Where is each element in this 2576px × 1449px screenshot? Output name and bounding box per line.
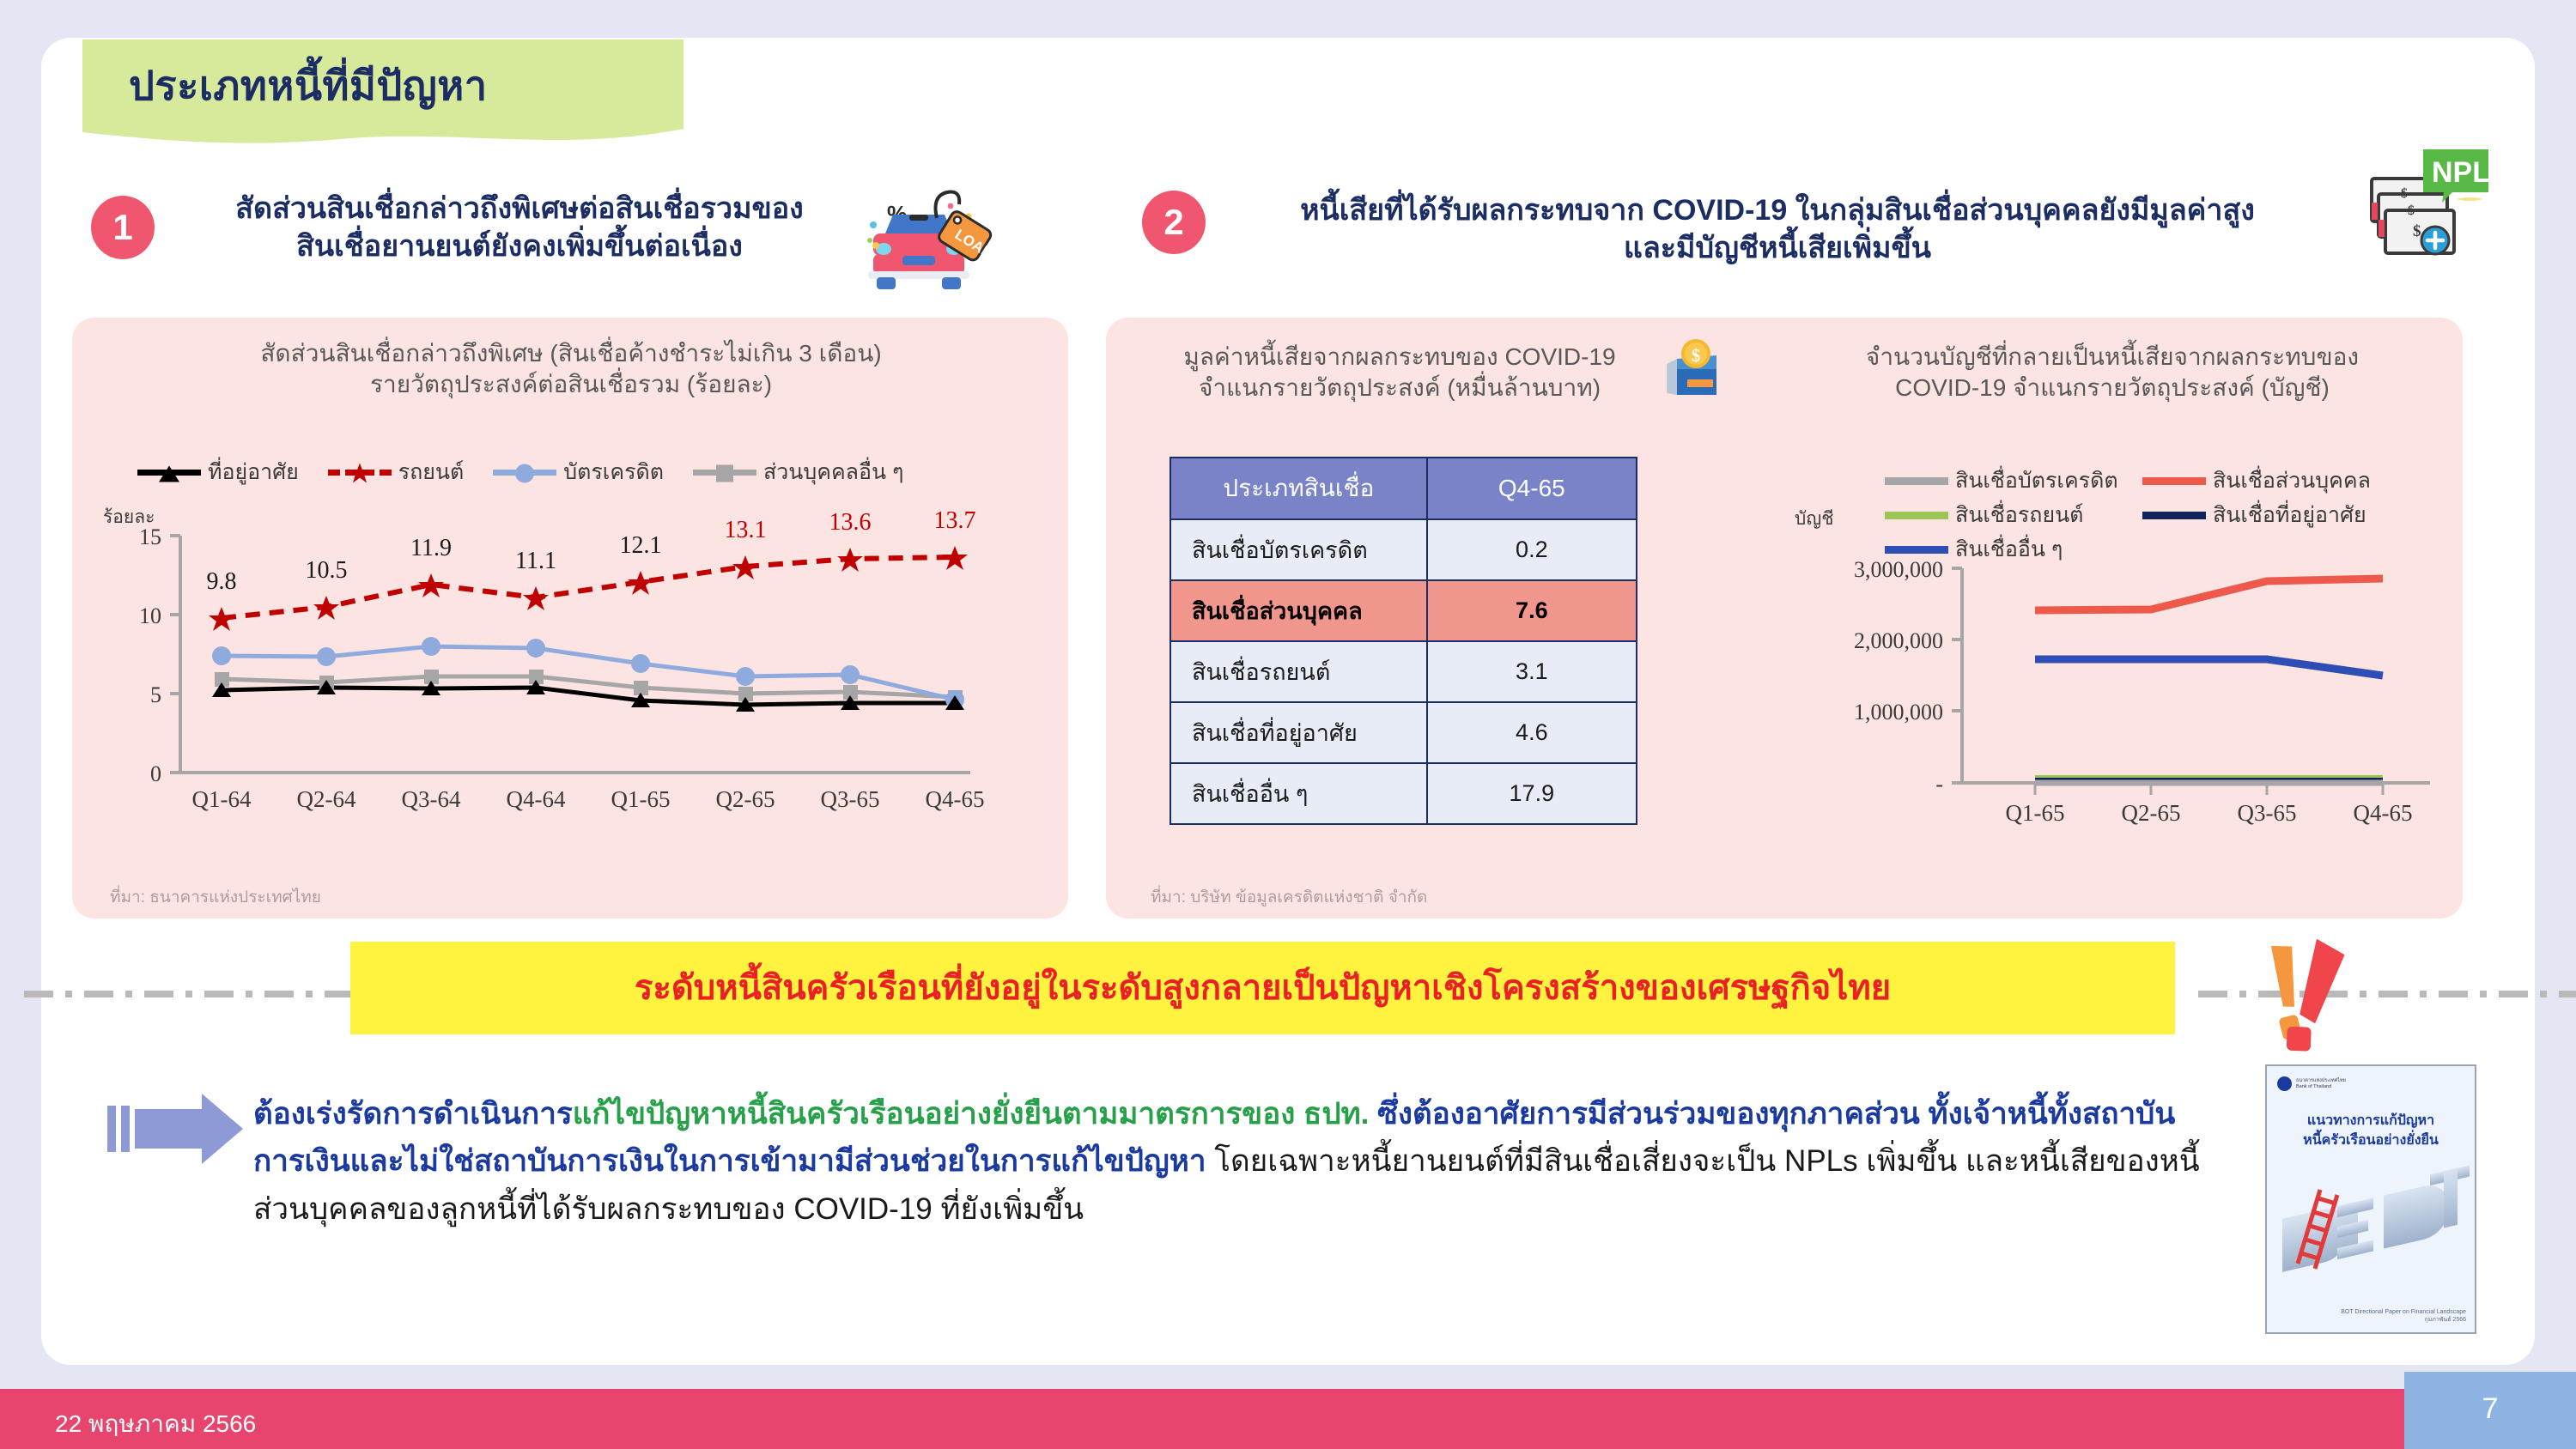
- book-footnote: BOT Directional Paper on Financial Lands…: [2341, 1309, 2466, 1325]
- table-cell-label: สินเชื่ออื่น ๆ: [1170, 763, 1427, 824]
- legend-item-personal[interactable]: สินเชื่อส่วนบุคคล: [2142, 464, 2434, 498]
- slide-root: ประเภทหนี้ที่มีปัญหา 1 สัดส่วนสินเชื่อกล…: [0, 0, 2576, 1449]
- svg-text:$: $: [2408, 203, 2415, 218]
- npl-table-source: ที่มา: บริษัท ข้อมูลเครดิตแห่งชาติ จำกัด: [1151, 884, 1427, 910]
- svg-text:-: -: [1935, 772, 1943, 797]
- npl-table-title-line2: จำแนกรายวัตถุประสงค์ (หมื่นล้านบาท): [1125, 373, 1674, 403]
- npl-accounts-title-line1: จำนวนบัญชีที่กลายเป็นหนี้เสียจากผลกระทบข…: [1799, 342, 2426, 373]
- npl-money-icon: $ $ $ NPL: [2353, 137, 2499, 258]
- svg-text:Q2-65: Q2-65: [2122, 800, 2181, 826]
- conclusion-paragraph: ต้องเร่งรัดการดำเนินการแก้ไขปัญหาหนี้สิน…: [253, 1090, 2220, 1233]
- section-2-title-line2: และมีบัญชีหนี้เสียเพิ่มขึ้น: [1219, 230, 2336, 268]
- svg-text:3,000,000: 3,000,000: [1854, 557, 1943, 582]
- table-header-row: ประเภทสินเชื่อ Q4-65: [1170, 458, 1637, 519]
- svg-text:Q4-65: Q4-65: [926, 786, 985, 812]
- footer-bar: [0, 1389, 2576, 1449]
- table-cell-label: สินเชื่อส่วนบุคคล: [1170, 580, 1427, 641]
- legend-item-housing[interactable]: ที่อยู่อาศัย: [137, 455, 299, 489]
- bot-logo-icon: ธนาคารแห่งประเทศไทย Bank of Thailand: [2277, 1076, 2346, 1091]
- legend-item-auto[interactable]: รถยนต์: [328, 455, 465, 489]
- svg-text:NPL: NPL: [2432, 156, 2490, 189]
- legend-label-auto: รถยนต์: [398, 455, 465, 489]
- svg-text:Q3-65: Q3-65: [821, 786, 880, 812]
- circle-marker-icon: [513, 462, 536, 488]
- npl-table-title: มูลค่าหนี้เสียจากผลกระทบของ COVID-19 จำแ…: [1125, 342, 1674, 404]
- svg-text:10.5: 10.5: [306, 557, 348, 584]
- table-row[interactable]: สินเชื่อรถยนต์ 3.1: [1170, 641, 1637, 702]
- svg-text:0: 0: [150, 761, 161, 786]
- section-2-badge: 2: [1142, 191, 1206, 254]
- section-1-title: สัดส่วนสินเชื่อกล่าวถึงพิเศษต่อสินเชื่อร…: [185, 191, 854, 265]
- star-marker-icon: [349, 462, 371, 488]
- svg-text:Q3-65: Q3-65: [2238, 800, 2297, 826]
- section-1-title-line2: สินเชื่อยานยนต์ยังคงเพิ่มขึ้นต่อเนื่อง: [185, 228, 854, 266]
- book-title: แนวทางการแก้ปัญหา หนี้ครัวเรือนอย่างยั่ง…: [2267, 1111, 2475, 1150]
- svg-text:Q1-64: Q1-64: [192, 786, 252, 812]
- slm-chart-source: ที่มา: ธนาคารแห่งประเทศไทย: [110, 884, 321, 910]
- legend-item-auto[interactable]: สินเชื่อรถยนต์: [1885, 498, 2142, 532]
- npl-accounts-chart-title: จำนวนบัญชีที่กลายเป็นหนี้เสียจากผลกระทบข…: [1799, 342, 2426, 404]
- car-loan-icon: % LOAN: [854, 180, 1005, 300]
- table-col-type: ประเภทสินเชื่อ: [1170, 458, 1427, 519]
- npl-accounts-y-axis-label: บัญชี: [1795, 505, 1833, 533]
- slm-chart-title-line1: สัดส่วนสินเชื่อกล่าวถึงพิเศษ (สินเชื่อค้…: [94, 338, 1048, 369]
- page-title: ประเภทหนี้ที่มีปัญหา: [129, 53, 488, 118]
- table-cell-value: 4.6: [1427, 702, 1637, 763]
- legend-label-auto: สินเชื่อรถยนต์: [1955, 498, 2083, 532]
- svg-text:Q4-65: Q4-65: [2354, 800, 2413, 826]
- table-row[interactable]: สินเชื่อบัตรเครดิต 0.2: [1170, 519, 1637, 580]
- slm-chart-title-line2: รายวัตถุประสงค์ต่อสินเชื่อรวม (ร้อยละ): [94, 369, 1048, 400]
- svg-text:$: $: [2401, 186, 2408, 201]
- table-col-q465: Q4-65: [1427, 458, 1637, 519]
- svg-text:13.6: 13.6: [829, 509, 872, 536]
- svg-text:Q4-64: Q4-64: [507, 786, 566, 812]
- conclusion-seg-3: ซึ่งต้อง: [1369, 1097, 1464, 1131]
- divider-left: [24, 991, 350, 997]
- legend-item-personal-other[interactable]: ส่วนบุคคลอื่น ๆ: [693, 455, 904, 489]
- slm-chart-legend: ที่อยู่อาศัย รถยนต์ บัตรเครดิต ส่วนบุคคล…: [137, 455, 1065, 489]
- book-footnote-line1: BOT Directional Paper on Financial Lands…: [2341, 1309, 2466, 1315]
- table-cell-value: 17.9: [1427, 763, 1637, 824]
- page-number: 7: [2404, 1392, 2576, 1426]
- svg-text:Q1-65: Q1-65: [2006, 800, 2065, 826]
- slm-chart-title: สัดส่วนสินเชื่อกล่าวถึงพิเศษ (สินเชื่อค้…: [94, 338, 1048, 401]
- book-logo-line2: Bank of Thailand: [2296, 1084, 2346, 1090]
- table-row-highlighted[interactable]: สินเชื่อส่วนบุคคล 7.6: [1170, 580, 1637, 641]
- table-cell-value: 3.1: [1427, 641, 1637, 702]
- legend-label-personal: สินเชื่อส่วนบุคคล: [2213, 464, 2371, 498]
- svg-text:Q2-65: Q2-65: [716, 786, 775, 812]
- npl-value-table: ประเภทสินเชื่อ Q4-65 สินเชื่อบัตรเครดิต …: [1170, 457, 1637, 825]
- square-marker-icon: [714, 462, 736, 488]
- svg-text:Q3-64: Q3-64: [402, 786, 461, 812]
- footer-date: 22 พฤษภาคม 2566: [55, 1405, 256, 1443]
- section-1-title-line1: สัดส่วนสินเชื่อกล่าวถึงพิเศษต่อสินเชื่อร…: [185, 191, 854, 228]
- svg-text:11.9: 11.9: [410, 535, 452, 561]
- arrow-right-icon: [107, 1092, 245, 1166]
- legend-item-housing[interactable]: สินเชื่อที่อยู่อาศัย: [2142, 498, 2434, 532]
- legend-label-housing: สินเชื่อที่อยู่อาศัย: [2213, 498, 2366, 532]
- svg-text:Q1-65: Q1-65: [611, 786, 671, 812]
- svg-text:15: 15: [139, 524, 161, 549]
- book-footnote-line2: กุมภาพันธ์ 2566: [2341, 1315, 2466, 1325]
- legend-label-housing: ที่อยู่อาศัย: [208, 455, 299, 489]
- conclusion-seg-1: ต้องเร่งรัดการดำเนินการ: [253, 1097, 573, 1131]
- legend-label-credit-card: สินเชื่อบัตรเครดิต: [1955, 464, 2118, 498]
- callout-text: ระดับหนี้สินครัวเรือนที่ยังอยู่ในระดับสู…: [350, 960, 2175, 1015]
- svg-text:Q2-64: Q2-64: [297, 786, 356, 812]
- svg-text:9.8: 9.8: [207, 568, 237, 595]
- svg-text:10: 10: [139, 603, 161, 628]
- svg-text:13.7: 13.7: [934, 507, 976, 534]
- svg-text:2,000,000: 2,000,000: [1854, 628, 1943, 653]
- book-title-line2: หนี้ครัวเรือนอย่างยั่งยืน: [2267, 1131, 2475, 1150]
- svg-text:5: 5: [150, 682, 161, 707]
- legend-label-personal-other: ส่วนบุคคลอื่น ๆ: [763, 455, 904, 489]
- report-cover-thumbnail[interactable]: ธนาคารแห่งประเทศไทย Bank of Thailand แนว…: [2265, 1064, 2476, 1334]
- section-2-title: หนี้เสียที่ได้รับผลกระทบจาก COVID-19 ในก…: [1219, 192, 2336, 267]
- svg-text:13.1: 13.1: [725, 517, 767, 543]
- legend-item-credit-card[interactable]: บัตรเครดิต: [493, 455, 664, 489]
- legend-label-credit-card: บัตรเครดิต: [563, 455, 664, 489]
- npl-accounts-chart: 3,000,000 2,000,000 1,000,000 - Q1-65 Q2…: [1786, 541, 2464, 824]
- debt-illustration: [2267, 1161, 2475, 1311]
- double-exclamation-icon: [2250, 937, 2361, 1053]
- table-cell-value: 7.6: [1427, 580, 1637, 641]
- section-1-badge: 1: [91, 196, 155, 259]
- slm-ratio-chart: 15 10 5 0: [94, 522, 1048, 814]
- table-cell-label: สินเชื่อที่อยู่อาศัย: [1170, 702, 1427, 763]
- npl-accounts-title-line2: COVID-19 จำแนกรายวัตถุประสงค์ (บัญชี): [1799, 373, 2426, 403]
- book-title-line1: แนวทางการแก้ปัญหา: [2267, 1111, 2475, 1131]
- conclusion-seg-2: แก้ไขปัญหาหนี้สินครัวเรือนอย่างยั่งยืนตา…: [573, 1097, 1370, 1131]
- svg-text:11.1: 11.1: [515, 548, 556, 574]
- table-cell-label: สินเชื่อบัตรเครดิต: [1170, 519, 1427, 580]
- table-cell-value: 0.2: [1427, 519, 1637, 580]
- section-2-title-line1: หนี้เสียที่ได้รับผลกระทบจาก COVID-19 ในก…: [1219, 192, 2336, 230]
- svg-text:12.1: 12.1: [620, 532, 662, 559]
- legend-item-credit-card[interactable]: สินเชื่อบัตรเครดิต: [1885, 464, 2142, 498]
- svg-text:$: $: [1692, 345, 1701, 366]
- npl-table-title-line1: มูลค่าหนี้เสียจากผลกระทบของ COVID-19: [1125, 342, 1674, 373]
- money-box-icon: $: [1662, 336, 1756, 422]
- table-cell-label: สินเชื่อรถยนต์: [1170, 641, 1427, 702]
- svg-text:$: $: [2413, 222, 2421, 240]
- svg-text:1,000,000: 1,000,000: [1854, 700, 1943, 724]
- table-row[interactable]: สินเชื่ออื่น ๆ 17.9: [1170, 763, 1637, 824]
- table-row[interactable]: สินเชื่อที่อยู่อาศัย 4.6: [1170, 702, 1637, 763]
- triangle-marker-icon: [158, 464, 180, 487]
- book-logo-line1: ธนาคารแห่งประเทศไทย: [2296, 1078, 2346, 1084]
